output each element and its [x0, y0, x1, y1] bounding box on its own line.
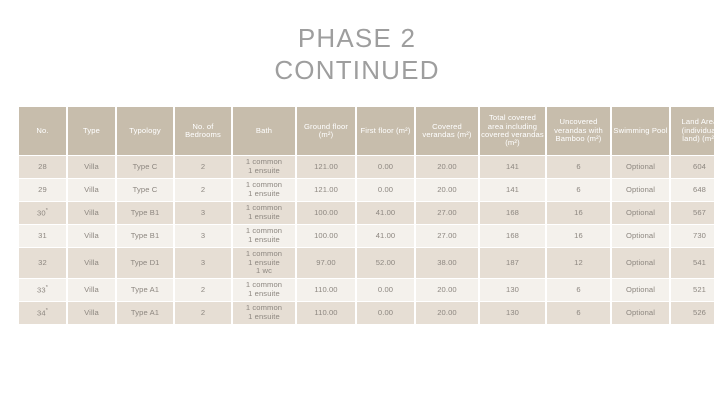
- cell-covered-verandas: 27.00: [416, 202, 478, 224]
- column-header-bath[interactable]: Bath: [233, 107, 295, 155]
- asterisk-marker: *: [46, 208, 48, 214]
- cell-type: Villa: [68, 202, 115, 224]
- cell-ground-floor: 121.00: [297, 179, 355, 201]
- cell-first-floor: 41.00: [357, 225, 414, 247]
- cell-bath: 1 common1 ensuite: [233, 279, 295, 301]
- cell-typology: Type C: [117, 179, 173, 201]
- table-row[interactable]: 31VillaType B131 common1 ensuite100.0041…: [19, 225, 714, 247]
- cell-uncovered-verandas: 16: [547, 202, 610, 224]
- cell-uncovered-verandas: 16: [547, 225, 610, 247]
- column-header-total-covered-area-including-covered-verandas-m[interactable]: Total covered area including covered ver…: [480, 107, 545, 155]
- asterisk-marker: *: [46, 285, 48, 291]
- asterisk-marker: *: [46, 308, 48, 314]
- cell-type: Villa: [68, 156, 115, 178]
- cell-no: 34*: [19, 302, 66, 324]
- table-row[interactable]: 33*VillaType A121 common1 ensuite110.000…: [19, 279, 714, 301]
- cell-bath: 1 common1 ensuite: [233, 179, 295, 201]
- cell-swimming-pool: Optional: [612, 248, 669, 278]
- table-row[interactable]: 32VillaType D131 common1 ensuite1 wc97.0…: [19, 248, 714, 278]
- cell-covered-verandas: 20.00: [416, 179, 478, 201]
- cell-land-area: 521: [671, 279, 714, 301]
- cell-typology: Type A1: [117, 302, 173, 324]
- cell-bedrooms: 3: [175, 225, 231, 247]
- cell-first-floor: 0.00: [357, 179, 414, 201]
- cell-type: Villa: [68, 225, 115, 247]
- cell-typology: Type D1: [117, 248, 173, 278]
- table-header: No.TypeTypologyNo. of BedroomsBathGround…: [19, 107, 714, 155]
- cell-bath: 1 common1 ensuite: [233, 156, 295, 178]
- cell-typology: Type B1: [117, 202, 173, 224]
- cell-total-covered-area: 168: [480, 225, 545, 247]
- cell-land-area: 730: [671, 225, 714, 247]
- table-header-row: No.TypeTypologyNo. of BedroomsBathGround…: [19, 107, 714, 155]
- bath-line: 1 ensuite: [234, 213, 294, 222]
- bath-line: 1 ensuite: [234, 190, 294, 199]
- cell-first-floor: 0.00: [357, 302, 414, 324]
- cell-land-area: 567: [671, 202, 714, 224]
- cell-land-area: 526: [671, 302, 714, 324]
- table-row[interactable]: 28VillaType C21 common1 ensuite121.000.0…: [19, 156, 714, 178]
- cell-swimming-pool: Optional: [612, 279, 669, 301]
- cell-total-covered-area: 141: [480, 179, 545, 201]
- page-title-line-2: CONTINUED: [0, 54, 714, 86]
- column-header-first-floor-m[interactable]: First floor (m²): [357, 107, 414, 155]
- cell-bath: 1 common1 ensuite: [233, 202, 295, 224]
- column-header-typology[interactable]: Typology: [117, 107, 173, 155]
- cell-first-floor: 0.00: [357, 156, 414, 178]
- cell-no: 33*: [19, 279, 66, 301]
- column-header-uncovered-verandas-with-bamboo-m[interactable]: Uncovered verandas with Bamboo (m²): [547, 107, 610, 155]
- cell-covered-verandas: 20.00: [416, 156, 478, 178]
- bath-line: 1 ensuite: [234, 167, 294, 176]
- cell-bath: 1 common1 ensuite: [233, 225, 295, 247]
- specification-table: No.TypeTypologyNo. of BedroomsBathGround…: [17, 106, 714, 325]
- cell-first-floor: 41.00: [357, 202, 414, 224]
- cell-covered-verandas: 20.00: [416, 279, 478, 301]
- cell-total-covered-area: 141: [480, 156, 545, 178]
- page-title: PHASE 2 CONTINUED: [0, 22, 714, 86]
- column-header-land-area-individual-land-m[interactable]: Land Area (individual land) (m²): [671, 107, 714, 155]
- table-row[interactable]: 30*VillaType B131 common1 ensuite100.004…: [19, 202, 714, 224]
- cell-ground-floor: 100.00: [297, 202, 355, 224]
- cell-bedrooms: 2: [175, 302, 231, 324]
- cell-bath: 1 common1 ensuite1 wc: [233, 248, 295, 278]
- column-header-swimming-pool[interactable]: Swimming Pool: [612, 107, 669, 155]
- column-header-type[interactable]: Type: [68, 107, 115, 155]
- page-root: PHASE 2 CONTINUED No.TypeTypologyNo. of …: [0, 0, 714, 400]
- cell-uncovered-verandas: 6: [547, 302, 610, 324]
- cell-no: 30*: [19, 202, 66, 224]
- cell-uncovered-verandas: 6: [547, 156, 610, 178]
- column-header-covered-verandas-m[interactable]: Covered verandas (m²): [416, 107, 478, 155]
- cell-land-area: 648: [671, 179, 714, 201]
- column-header-no[interactable]: No.: [19, 107, 66, 155]
- cell-ground-floor: 121.00: [297, 156, 355, 178]
- cell-ground-floor: 100.00: [297, 225, 355, 247]
- cell-swimming-pool: Optional: [612, 202, 669, 224]
- cell-uncovered-verandas: 12: [547, 248, 610, 278]
- cell-bedrooms: 2: [175, 279, 231, 301]
- cell-uncovered-verandas: 6: [547, 179, 610, 201]
- cell-total-covered-area: 130: [480, 279, 545, 301]
- specification-table-container: No.TypeTypologyNo. of BedroomsBathGround…: [17, 106, 698, 325]
- cell-type: Villa: [68, 179, 115, 201]
- cell-ground-floor: 110.00: [297, 302, 355, 324]
- bath-line: 1 ensuite: [234, 313, 294, 322]
- cell-bedrooms: 2: [175, 156, 231, 178]
- cell-swimming-pool: Optional: [612, 225, 669, 247]
- page-title-line-1: PHASE 2: [0, 22, 714, 54]
- cell-type: Villa: [68, 279, 115, 301]
- cell-typology: Type A1: [117, 279, 173, 301]
- cell-covered-verandas: 27.00: [416, 225, 478, 247]
- cell-bath: 1 common1 ensuite: [233, 302, 295, 324]
- cell-no: 32: [19, 248, 66, 278]
- cell-bedrooms: 3: [175, 248, 231, 278]
- cell-no: 31: [19, 225, 66, 247]
- cell-type: Villa: [68, 248, 115, 278]
- cell-land-area: 604: [671, 156, 714, 178]
- cell-swimming-pool: Optional: [612, 302, 669, 324]
- cell-uncovered-verandas: 6: [547, 279, 610, 301]
- bath-line: 1 ensuite: [234, 290, 294, 299]
- cell-land-area: 541: [671, 248, 714, 278]
- cell-covered-verandas: 38.00: [416, 248, 478, 278]
- cell-swimming-pool: Optional: [612, 156, 669, 178]
- cell-total-covered-area: 130: [480, 302, 545, 324]
- column-header-no-of-bedrooms[interactable]: No. of Bedrooms: [175, 107, 231, 155]
- table-row[interactable]: 34*VillaType A121 common1 ensuite110.000…: [19, 302, 714, 324]
- cell-first-floor: 0.00: [357, 279, 414, 301]
- table-body: 28VillaType C21 common1 ensuite121.000.0…: [19, 156, 714, 324]
- table-row[interactable]: 29VillaType C21 common1 ensuite121.000.0…: [19, 179, 714, 201]
- cell-ground-floor: 97.00: [297, 248, 355, 278]
- cell-no: 28: [19, 156, 66, 178]
- bath-line: 1 ensuite: [234, 236, 294, 245]
- cell-swimming-pool: Optional: [612, 179, 669, 201]
- cell-no: 29: [19, 179, 66, 201]
- cell-total-covered-area: 168: [480, 202, 545, 224]
- cell-typology: Type B1: [117, 225, 173, 247]
- cell-bedrooms: 2: [175, 179, 231, 201]
- cell-typology: Type C: [117, 156, 173, 178]
- cell-ground-floor: 110.00: [297, 279, 355, 301]
- column-header-ground-floor-m[interactable]: Ground floor (m²): [297, 107, 355, 155]
- cell-total-covered-area: 187: [480, 248, 545, 278]
- cell-first-floor: 52.00: [357, 248, 414, 278]
- cell-type: Villa: [68, 302, 115, 324]
- cell-bedrooms: 3: [175, 202, 231, 224]
- cell-covered-verandas: 20.00: [416, 302, 478, 324]
- bath-line: 1 wc: [234, 267, 294, 276]
